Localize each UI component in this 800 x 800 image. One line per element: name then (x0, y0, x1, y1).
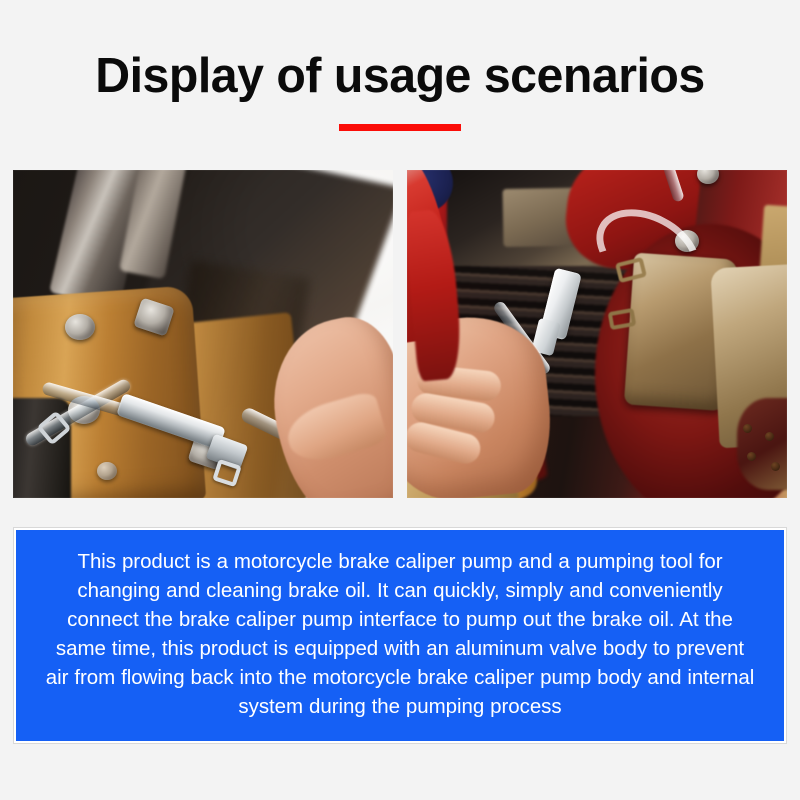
disc-rivet (765, 432, 774, 441)
title-underline-rule (339, 124, 461, 131)
brake-disc-section (737, 398, 787, 490)
caliper-bolt (697, 170, 719, 184)
product-description-text: This product is a motorcycle brake calip… (42, 547, 758, 721)
disc-rivet (747, 452, 756, 461)
page-header: Display of usage scenarios (0, 0, 800, 131)
usage-photo-right[interactable] (407, 170, 787, 498)
product-description-panel: This product is a motorcycle brake calip… (14, 528, 786, 743)
caliper-bolt (65, 314, 95, 340)
page-title: Display of usage scenarios (6, 52, 794, 101)
disc-rivet (743, 424, 752, 433)
usage-photo-left[interactable] (13, 170, 393, 498)
usage-scenario-gallery (13, 170, 787, 498)
disc-rivet (771, 462, 780, 471)
caliper-bolt (97, 462, 117, 480)
